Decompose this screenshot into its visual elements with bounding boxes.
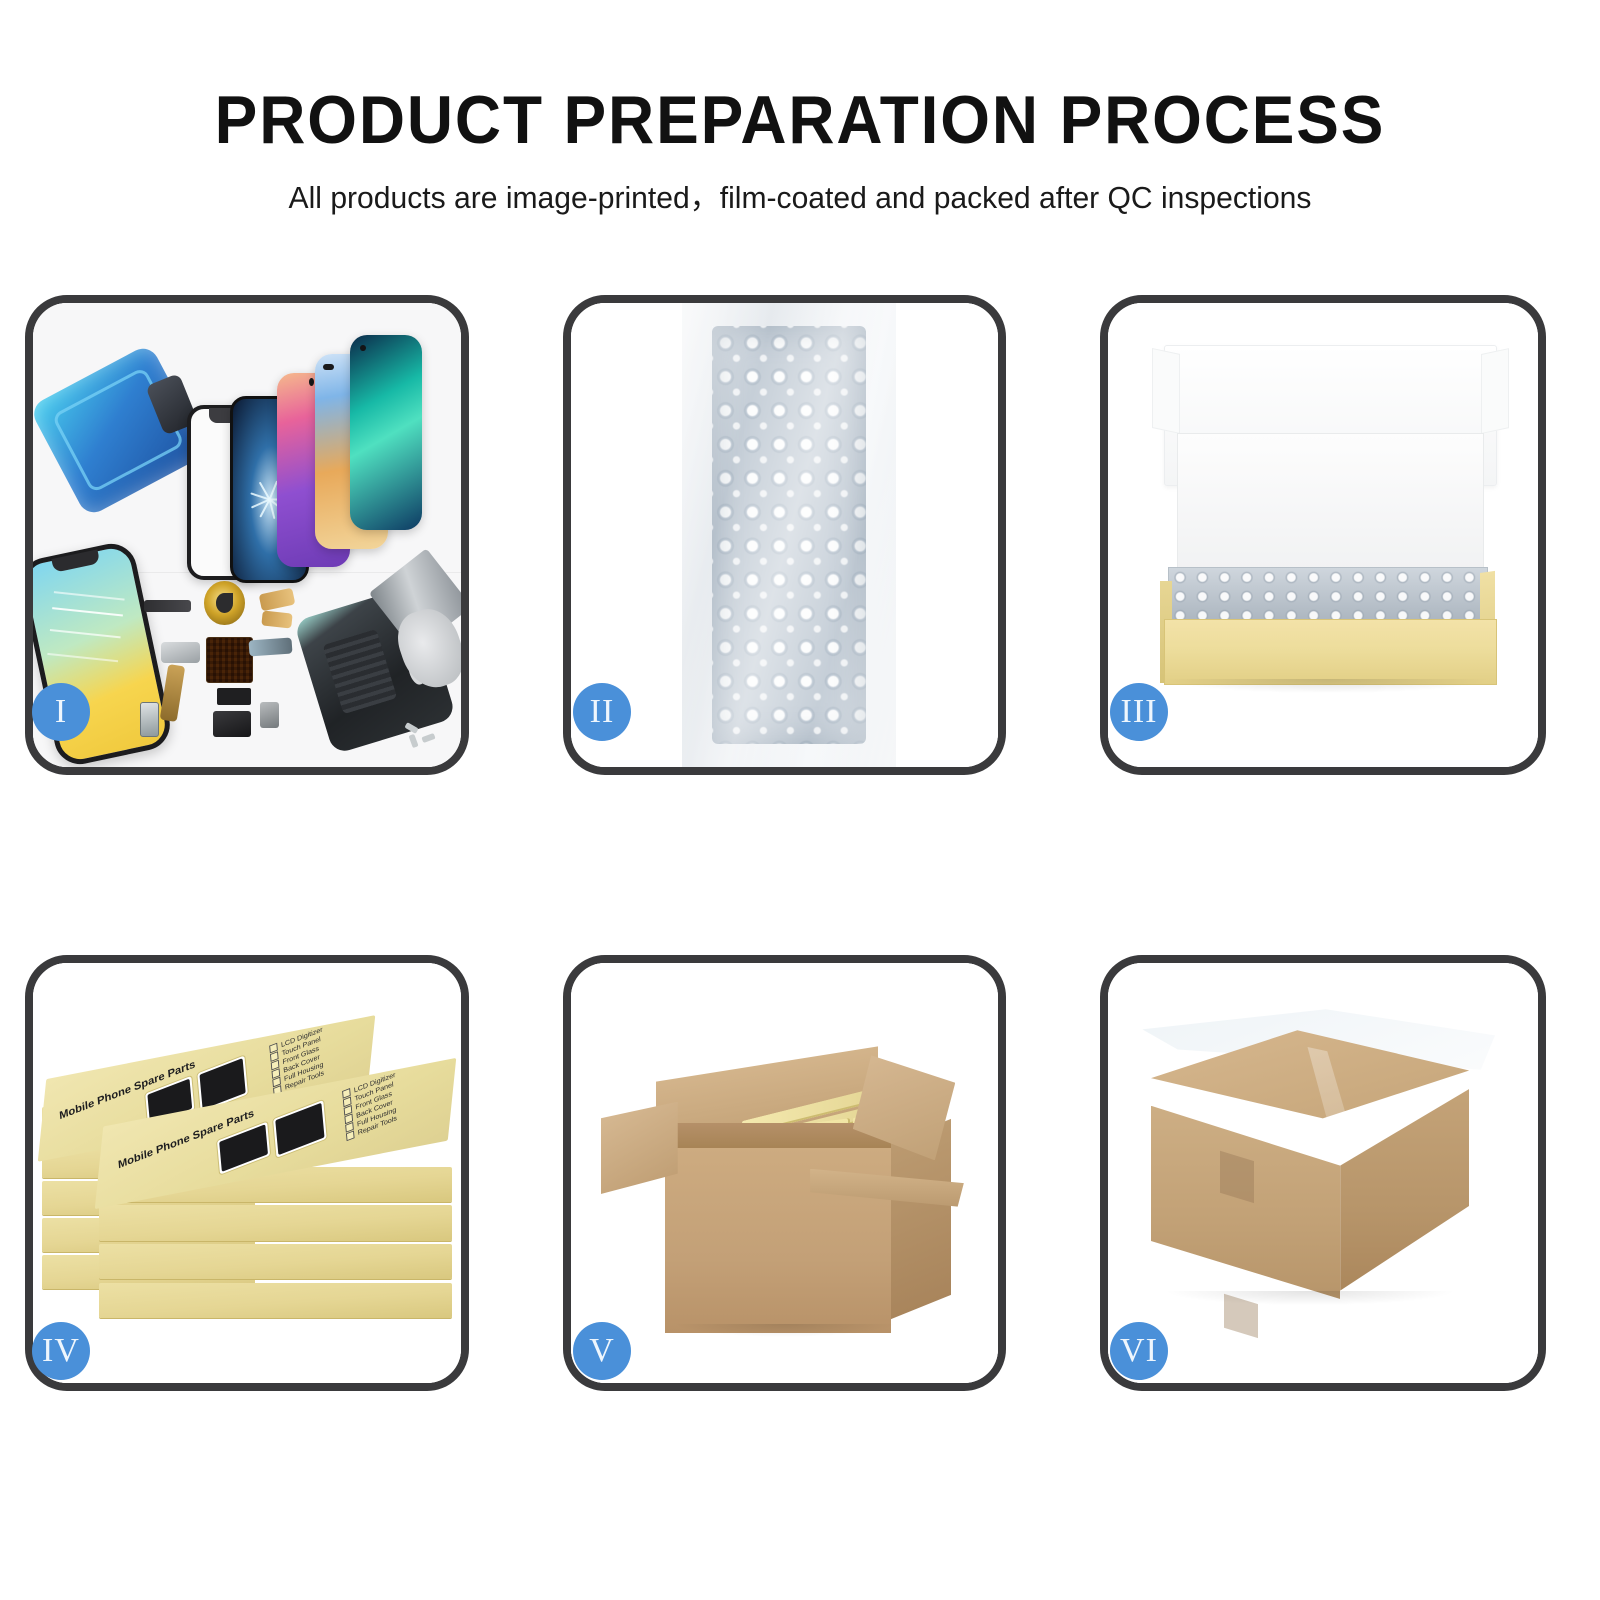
bubble-wrap-sleeve: [682, 303, 896, 767]
step-badge-3: III: [1110, 683, 1168, 741]
inner-box-front-wall: [1164, 619, 1497, 686]
connector-part-1: [217, 688, 251, 705]
screws-part: [405, 725, 444, 748]
inner-box-shadow: [1168, 679, 1486, 693]
flex-cable-part-2: [261, 610, 292, 628]
step-6-image: [1108, 963, 1538, 1383]
step-5-image: [571, 963, 998, 1383]
step-badge-5: V: [573, 1322, 631, 1380]
carton-shadow: [673, 1324, 895, 1337]
retail-box-checklist-2: LCD Digitizer Touch Panel Front Glass Ba…: [342, 1071, 400, 1142]
process-step-panel-3: [1100, 295, 1546, 775]
process-step-panel-6: [1100, 955, 1546, 1391]
inner-box-back-wall: [1177, 433, 1484, 583]
step-badge-2: II: [573, 683, 631, 741]
process-step-panel-1: [25, 295, 469, 775]
retail-box-stack: Mobile Phone Spare Parts LCD Digitizer T…: [42, 997, 453, 1367]
step-badge-4: IV: [32, 1322, 90, 1380]
bubble-wrapped-product: [1168, 567, 1488, 625]
step-badge-1: I: [32, 683, 90, 741]
step-2-image: [571, 303, 998, 767]
step-badge-6: VI: [1110, 1322, 1168, 1380]
process-step-panel-5: [563, 955, 1006, 1391]
retail-box-right-2: [99, 1205, 452, 1240]
retail-box-thumbnails-2: [217, 1100, 326, 1175]
speaker-part: [213, 711, 252, 737]
retail-box-right-3: [99, 1244, 452, 1279]
wireless-coil-part: [204, 581, 245, 625]
plastic-sheen: [682, 303, 896, 767]
teal-phone-screen: [350, 335, 423, 530]
sealed-carton-shadow: [1168, 1291, 1452, 1306]
process-step-grid: I II III: [0, 0, 1600, 1600]
sim-tray-part: [140, 702, 159, 736]
retail-box-right-4: [99, 1283, 452, 1318]
earpiece-mesh-part: [144, 600, 191, 612]
camera-module-part: [161, 642, 200, 663]
step-3-image: [1108, 303, 1538, 767]
vibrator-part: [260, 702, 279, 728]
process-step-panel-4: Mobile Phone Spare Parts LCD Digitizer T…: [25, 955, 469, 1391]
step-4-image: Mobile Phone Spare Parts LCD Digitizer T…: [33, 963, 461, 1383]
ic-chip-part: [206, 637, 253, 683]
step-1-image: [33, 303, 461, 767]
